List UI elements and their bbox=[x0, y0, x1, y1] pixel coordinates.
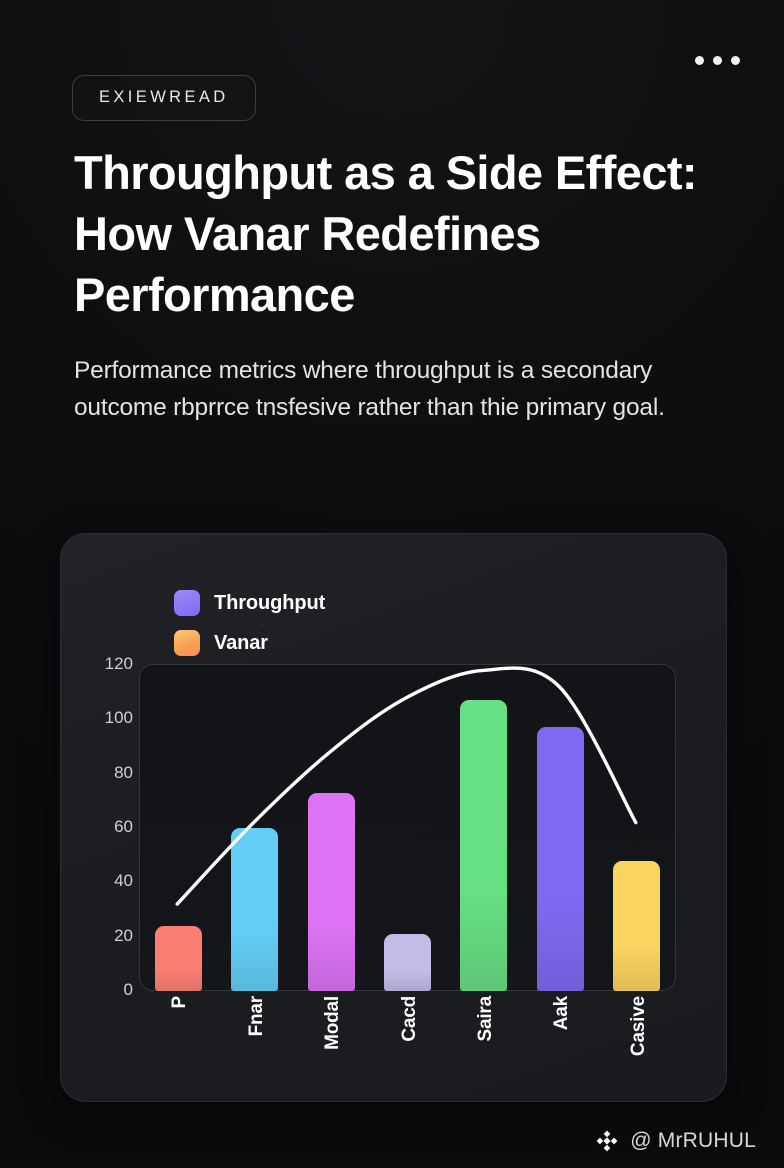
bar[interactable] bbox=[308, 793, 355, 991]
x-axis-label: Casive bbox=[628, 996, 650, 1056]
bar[interactable] bbox=[384, 934, 431, 991]
legend-item[interactable]: Throughput bbox=[174, 590, 325, 616]
y-axis-tick: 60 bbox=[73, 817, 133, 837]
y-axis-tick: 80 bbox=[73, 763, 133, 783]
category-badge[interactable]: EXIEWREAD bbox=[72, 75, 256, 121]
kebab-dot bbox=[731, 56, 740, 65]
kebab-menu-icon[interactable] bbox=[695, 56, 740, 65]
x-axis-label: Modal bbox=[322, 996, 344, 1050]
x-axis-label: Fnar bbox=[246, 996, 268, 1036]
y-axis: 020406080100120 bbox=[61, 664, 133, 991]
page-title: Throughput as a Side Effect: How Vanar R… bbox=[74, 142, 714, 325]
binance-diamond-icon bbox=[594, 1128, 620, 1154]
bar-series bbox=[140, 665, 675, 991]
chart-card: 020406080100120 ThroughputVanar PFnarMod… bbox=[60, 533, 727, 1102]
chart-legend: ThroughputVanar bbox=[174, 590, 325, 670]
footer-handle: @ MrRUHUL bbox=[630, 1129, 756, 1153]
y-axis-tick: 100 bbox=[73, 708, 133, 728]
bar[interactable] bbox=[613, 861, 660, 991]
legend-item[interactable]: Vanar bbox=[174, 630, 325, 656]
bar[interactable] bbox=[231, 828, 278, 991]
kebab-dot bbox=[713, 56, 722, 65]
y-axis-tick: 20 bbox=[73, 926, 133, 946]
kebab-dot bbox=[695, 56, 704, 65]
x-axis-label: Aak bbox=[551, 996, 573, 1030]
chart-inner: 020406080100120 ThroughputVanar PFnarMod… bbox=[61, 534, 726, 1101]
footer-watermark: @ MrRUHUL bbox=[594, 1128, 756, 1154]
bar[interactable] bbox=[155, 926, 202, 991]
x-axis-label: Saira bbox=[475, 996, 497, 1041]
page-subtitle: Performance metrics where throughput is … bbox=[74, 352, 674, 426]
bar[interactable] bbox=[460, 700, 507, 991]
bar[interactable] bbox=[537, 727, 584, 991]
x-axis-labels: PFnarModalCacdSairaAakCasive bbox=[140, 996, 675, 1091]
legend-label: Vanar bbox=[214, 632, 268, 655]
legend-label: Throughput bbox=[214, 592, 325, 615]
x-axis-label: Cacd bbox=[399, 996, 421, 1042]
legend-swatch-icon bbox=[174, 630, 200, 656]
y-axis-tick: 0 bbox=[73, 980, 133, 1000]
x-axis-label: P bbox=[169, 996, 191, 1008]
y-axis-tick: 120 bbox=[73, 654, 133, 674]
legend-swatch-icon bbox=[174, 590, 200, 616]
y-axis-tick: 40 bbox=[73, 871, 133, 891]
